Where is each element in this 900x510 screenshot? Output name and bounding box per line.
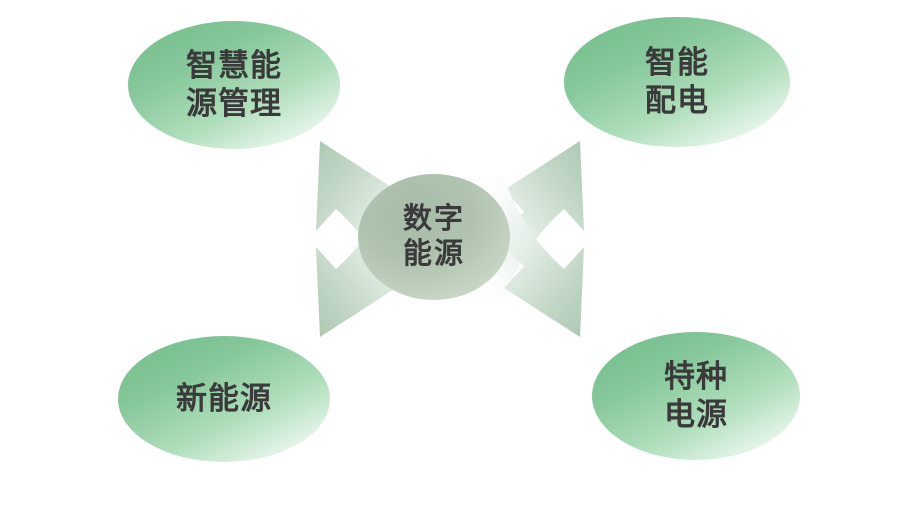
center-node[interactable]: [358, 174, 510, 300]
diagram-canvas: 智慧能 源管理 智能 配电 新能源 特种 电源 数字 能源: [0, 0, 900, 510]
node-special-power-supply[interactable]: [592, 332, 800, 460]
node-smart-distribution[interactable]: [564, 17, 790, 147]
node-smart-energy-management[interactable]: [128, 21, 340, 149]
node-new-energy[interactable]: [118, 336, 330, 462]
